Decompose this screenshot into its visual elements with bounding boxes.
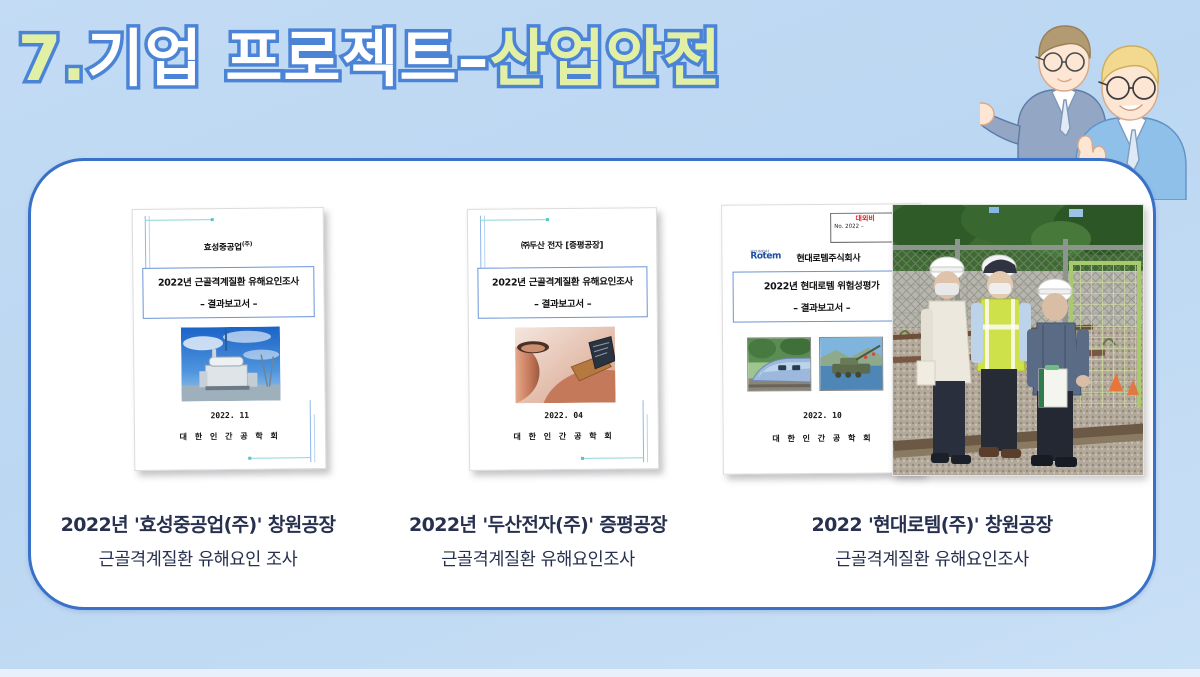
report-company-name: 효성중공업(주) xyxy=(133,238,323,254)
report-title-box: 2022년 근골격계질환 유해요인조사 – 결과보고서 – xyxy=(477,266,647,318)
report-organization: 대 한 인 간 공 학 회 xyxy=(135,430,325,443)
report-title-line2: – 결과보고서 – xyxy=(736,299,908,314)
company-text: 효성중공업 xyxy=(204,243,242,253)
corner-rule-horizontal xyxy=(480,219,548,221)
confidential-stamp: 대외비 No. 2022 – xyxy=(830,212,900,242)
corner-rule-horizontal xyxy=(145,219,213,221)
cover-photo-copper-foil xyxy=(515,327,616,404)
report-title-line1: 2022년 근골격계질환 유해요인조사 xyxy=(480,273,644,288)
rotem-logo-text: Rotem xyxy=(750,251,780,261)
report-title-box: 2022년 현대로템 위험성평가 – 결과보고서 – xyxy=(733,270,911,322)
cover-photo-tank xyxy=(819,337,883,391)
project-card-hyosung: 효성중공업(주) 2022년 근골격계질환 유해요인조사 – 결과보고서 – xyxy=(28,158,368,610)
corner-dot xyxy=(211,218,214,221)
site-inspection-photo xyxy=(892,204,1144,476)
corner-dot-br xyxy=(581,457,584,460)
report-title-line2: – 결과보고서 – xyxy=(146,295,312,311)
corner-rule-horizontal-br xyxy=(249,457,311,459)
card-caption-rotem: 2022 '현대로템(주)' 창원공장 근골격계질환 유해요인조사 xyxy=(708,510,1156,571)
company-suffix: (주) xyxy=(242,241,252,248)
project-card-row: 효성중공업(주) 2022년 근골격계질환 유해요인조사 – 결과보고서 – xyxy=(28,158,1156,610)
card-caption-doosan: 2022년 '두산전자(주)' 증평공장 근골격계질환 유해요인조사 xyxy=(368,510,708,571)
report-title-box: 2022년 근골격계질환 유해요인조사 – 결과보고서 – xyxy=(142,266,315,319)
project-card-rotem: 대외비 No. 2022 – HYUNDAI Rotem 현대로템주식회사 20… xyxy=(708,158,1156,610)
corner-dot xyxy=(546,218,549,221)
caption-line2: 근골격계질환 유해요인 조사 xyxy=(28,546,368,571)
report-cover-doosan: ㈜두산 전자 [증평공장] 2022년 근골격계질환 유해요인조사 – 결과보고… xyxy=(467,207,659,471)
caption-line2: 근골격계질환 유해요인조사 xyxy=(368,546,708,571)
report-date: 2022. 11 xyxy=(135,410,325,421)
rotem-logo: HYUNDAI Rotem xyxy=(750,249,780,261)
caption-line1: 2022년 '두산전자(주)' 증평공장 xyxy=(368,510,708,537)
report-title-line1: 2022년 현대로템 위험성평가 xyxy=(736,277,908,292)
cover-photo-train xyxy=(747,337,811,391)
bottom-strip xyxy=(0,669,1200,677)
corner-dot-br xyxy=(248,457,251,460)
report-cover-hyosung: 효성중공업(주) 2022년 근골격계질환 유해요인조사 – 결과보고서 – xyxy=(132,207,327,471)
title-part-number: 7. xyxy=(18,28,87,90)
report-company-name: 현대로템주식회사 xyxy=(796,251,860,264)
corner-rule-horizontal-br xyxy=(582,457,644,459)
stamp-number: No. 2022 – xyxy=(831,223,899,230)
caption-line1: 2022 '현대로템(주)' 창원공장 xyxy=(708,510,1156,537)
cover-photo-substation xyxy=(181,326,281,401)
report-date: 2022. 04 xyxy=(470,410,658,421)
report-title-line1: 2022년 근골격계질환 유해요인조사 xyxy=(145,273,311,289)
card-caption-hyosung: 2022년 '효성중공업(주)' 창원공장 근골격계질환 유해요인 조사 xyxy=(28,510,368,571)
caption-line2: 근골격계질환 유해요인조사 xyxy=(708,546,1156,571)
title-part-dash: – xyxy=(458,28,490,90)
title-part-main: 기업 프로젝트 xyxy=(87,28,458,90)
company-text: ㈜두산 전자 [증평공장] xyxy=(521,241,603,252)
caption-line1: 2022년 '효성중공업(주)' 창원공장 xyxy=(28,510,368,537)
page-title: 7. 기업 프로젝트 – 산업안전 xyxy=(18,28,722,90)
slide-canvas: 7. 기업 프로젝트 – 산업안전 xyxy=(0,0,1200,677)
report-company-name: ㈜두산 전자 [증평공장] xyxy=(468,238,656,252)
report-organization: 대 한 인 간 공 학 회 xyxy=(470,430,658,443)
title-part-topic: 산업안전 xyxy=(490,28,722,90)
report-title-line2: – 결과보고서 – xyxy=(481,295,645,310)
project-card-doosan: ㈜두산 전자 [증평공장] 2022년 근골격계질환 유해요인조사 – 결과보고… xyxy=(368,158,708,610)
